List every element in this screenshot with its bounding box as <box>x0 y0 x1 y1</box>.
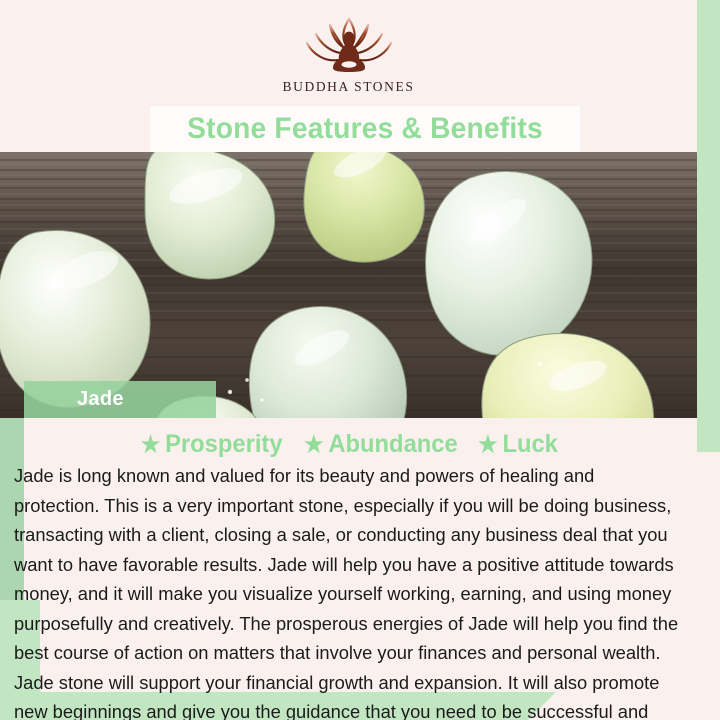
star-icon: ★ <box>141 433 161 456</box>
benefit-item-prosperity: ★ Prosperity <box>141 430 283 459</box>
benefit-item-abundance: ★ Abundance <box>304 430 458 459</box>
infographic-page: BUDDHA STONES Stone Features & Benefits <box>0 0 720 720</box>
brand-name: BUDDHA STONES <box>283 79 415 95</box>
title-banner: Stone Features & Benefits <box>150 106 580 152</box>
jade-stones-photo <box>0 152 697 418</box>
benefit-label: Prosperity <box>165 430 282 459</box>
decorative-green-right-bar <box>697 0 720 452</box>
star-icon: ★ <box>304 433 324 456</box>
lotus-meditation-figure-icon <box>297 14 401 76</box>
stone-description: Jade is long known and valued for its be… <box>14 461 680 720</box>
photo-caption-band: Jade <box>24 381 216 418</box>
header: BUDDHA STONES Stone Features & Benefits <box>0 0 697 152</box>
star-icon: ★ <box>478 433 498 456</box>
benefit-label: Luck <box>502 430 557 459</box>
brand-logo: BUDDHA STONES <box>0 14 697 95</box>
stone-name-label: Jade <box>77 388 124 411</box>
page-title: Stone Features & Benefits <box>163 110 567 148</box>
benefit-label: Abundance <box>329 430 458 459</box>
benefit-item-luck: ★ Luck <box>478 430 558 459</box>
benefits-row: ★ Prosperity ★ Abundance ★ Luck <box>0 430 697 459</box>
jade-stones-illustration <box>0 152 697 418</box>
